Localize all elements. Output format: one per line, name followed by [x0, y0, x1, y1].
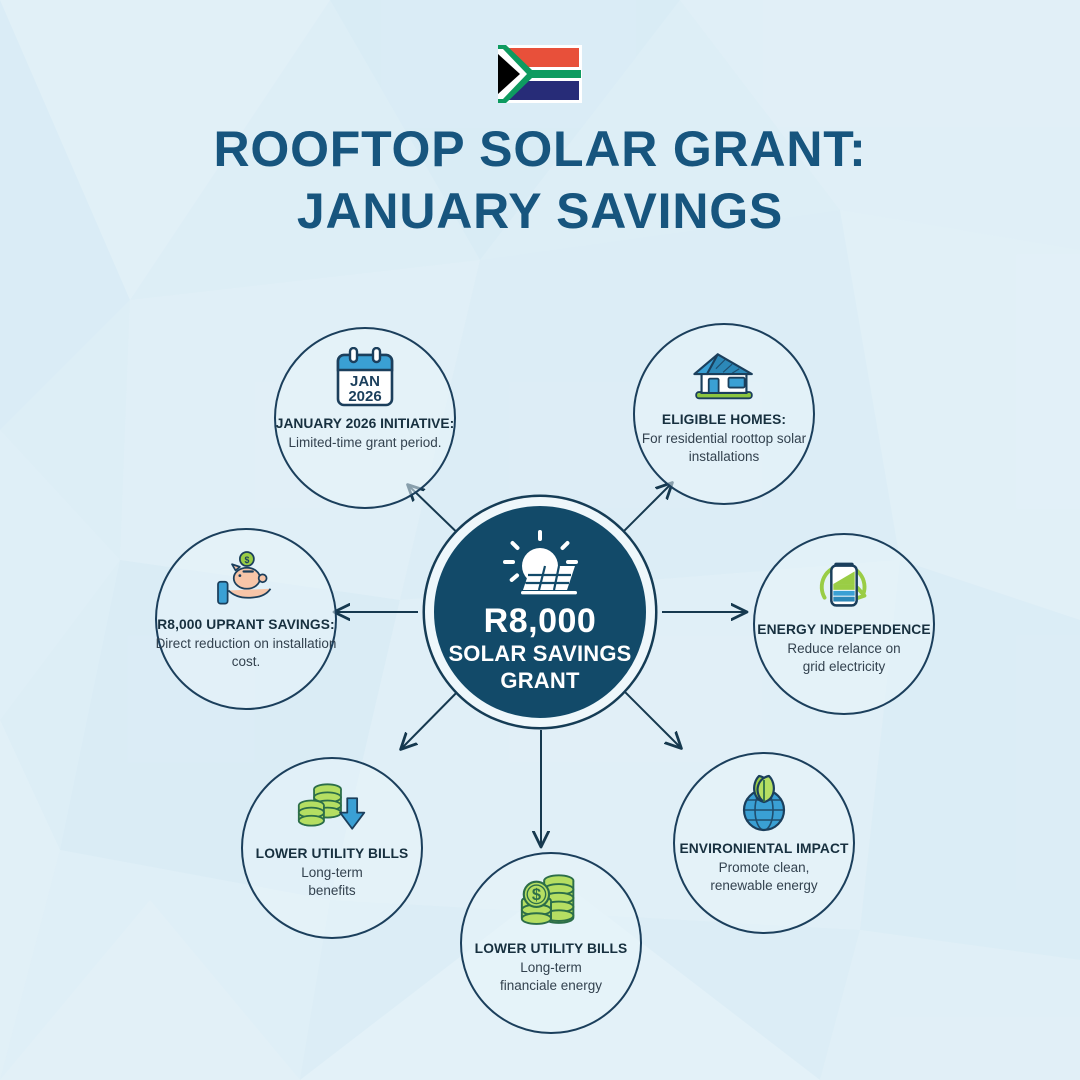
- node-january-initiative[interactable]: JAN 2026 JANUARY 2026 INITIATIVE: Limite…: [274, 327, 456, 509]
- node-independence-text: ENERGY INDEPENDENCE Reduce relance on gr…: [739, 621, 949, 677]
- node-lower-bills-financial-body-1: Long-term: [520, 960, 582, 975]
- calendar-year-label: 2026: [348, 388, 381, 405]
- node-upfront-text: R8,000 UPRANT SAVINGS: Direct reduction …: [141, 616, 351, 672]
- battery-recycle-icon: [809, 553, 879, 617]
- node-lower-bills-financial-body-2: financiale energy: [500, 978, 602, 993]
- infographic-canvas: ROOFTOP SOLAR GRANT: JANUARY SAVINGS: [0, 0, 1080, 1080]
- node-lower-bills-financial-heading: LOWER UTILITY BILLS: [446, 940, 656, 959]
- hub-subtitle-line-2: GRANT: [500, 667, 579, 694]
- node-upfront-heading: R8,000 UPRANT SAVINGS:: [141, 616, 351, 635]
- node-lower-bills-heading: LOWER UTILITY BILLS: [227, 845, 437, 864]
- piggy-bank-hand-icon: $: [211, 548, 281, 612]
- node-environmental-impact[interactable]: ENVIRONIENTAL IMPACT Promote clean, rene…: [673, 752, 855, 934]
- svg-text:$: $: [244, 555, 249, 565]
- node-lower-bills-body-1: Long-term: [301, 865, 363, 880]
- node-environment-text: ENVIRONIENTAL IMPACT Promote clean, rene…: [659, 840, 869, 896]
- node-environment-body-1: Promote clean,: [719, 860, 810, 875]
- node-eligible-homes[interactable]: ELIGIBLE HOMES: For residential roottop …: [633, 323, 815, 505]
- center-hub: R8,000 SOLAR SAVINGS GRANT: [425, 497, 655, 727]
- house-solar-roof-icon: [689, 343, 759, 407]
- hub-subtitle-line-1: SOLAR SAVINGS: [448, 640, 631, 667]
- node-lower-utility-bills-financial[interactable]: $ LOWER UTILITY BILLS Long-term financia…: [460, 852, 642, 1034]
- node-lower-bills-financial-text: LOWER UTILITY BILLS Long-term financiale…: [446, 940, 656, 996]
- svg-text:$: $: [532, 885, 541, 904]
- node-energy-independence[interactable]: ENERGY INDEPENDENCE Reduce relance on gr…: [753, 533, 935, 715]
- node-homes-heading: ELIGIBLE HOMES:: [619, 411, 829, 430]
- node-january-text: JANUARY 2026 INITIATIVE: Limited-time gr…: [260, 415, 470, 452]
- node-independence-body-1: Reduce relance on: [787, 641, 900, 656]
- node-upfront-savings[interactable]: $ R8,000 UPRANT SAVINGS: Direct reductio…: [155, 528, 337, 710]
- node-lower-bills-body-2: benefits: [308, 883, 355, 898]
- coin-stack-down-arrow-icon: [297, 777, 367, 841]
- calendar-icon: JAN 2026: [330, 347, 400, 411]
- node-january-heading: JANUARY 2026 INITIATIVE:: [276, 416, 454, 431]
- node-january-body: Limited-time grant period.: [288, 435, 441, 450]
- node-homes-text: ELIGIBLE HOMES: For residential roottop …: [619, 411, 829, 467]
- hub-amount: R8,000: [484, 602, 597, 640]
- coin-stack-dollar-icon: $: [516, 872, 586, 936]
- node-environment-body-2: renewable energy: [710, 878, 817, 893]
- sun-solar-panel-icon: [497, 530, 583, 596]
- node-homes-body: For residential roottop solar installati…: [642, 431, 806, 465]
- node-independence-heading: ENERGY INDEPENDENCE: [739, 621, 949, 640]
- arrow-to-environment: [614, 681, 680, 747]
- node-independence-body-2: grid electricity: [803, 659, 886, 674]
- node-lower-bills-text: LOWER UTILITY BILLS Long-term benefits: [227, 845, 437, 901]
- node-environment-heading: ENVIRONIENTAL IMPACT: [659, 840, 869, 859]
- node-lower-utility-bills[interactable]: LOWER UTILITY BILLS Long-term benefits: [241, 757, 423, 939]
- node-upfront-body: Direct reduction on installation cost.: [156, 636, 337, 670]
- globe-leaf-icon: [729, 772, 799, 836]
